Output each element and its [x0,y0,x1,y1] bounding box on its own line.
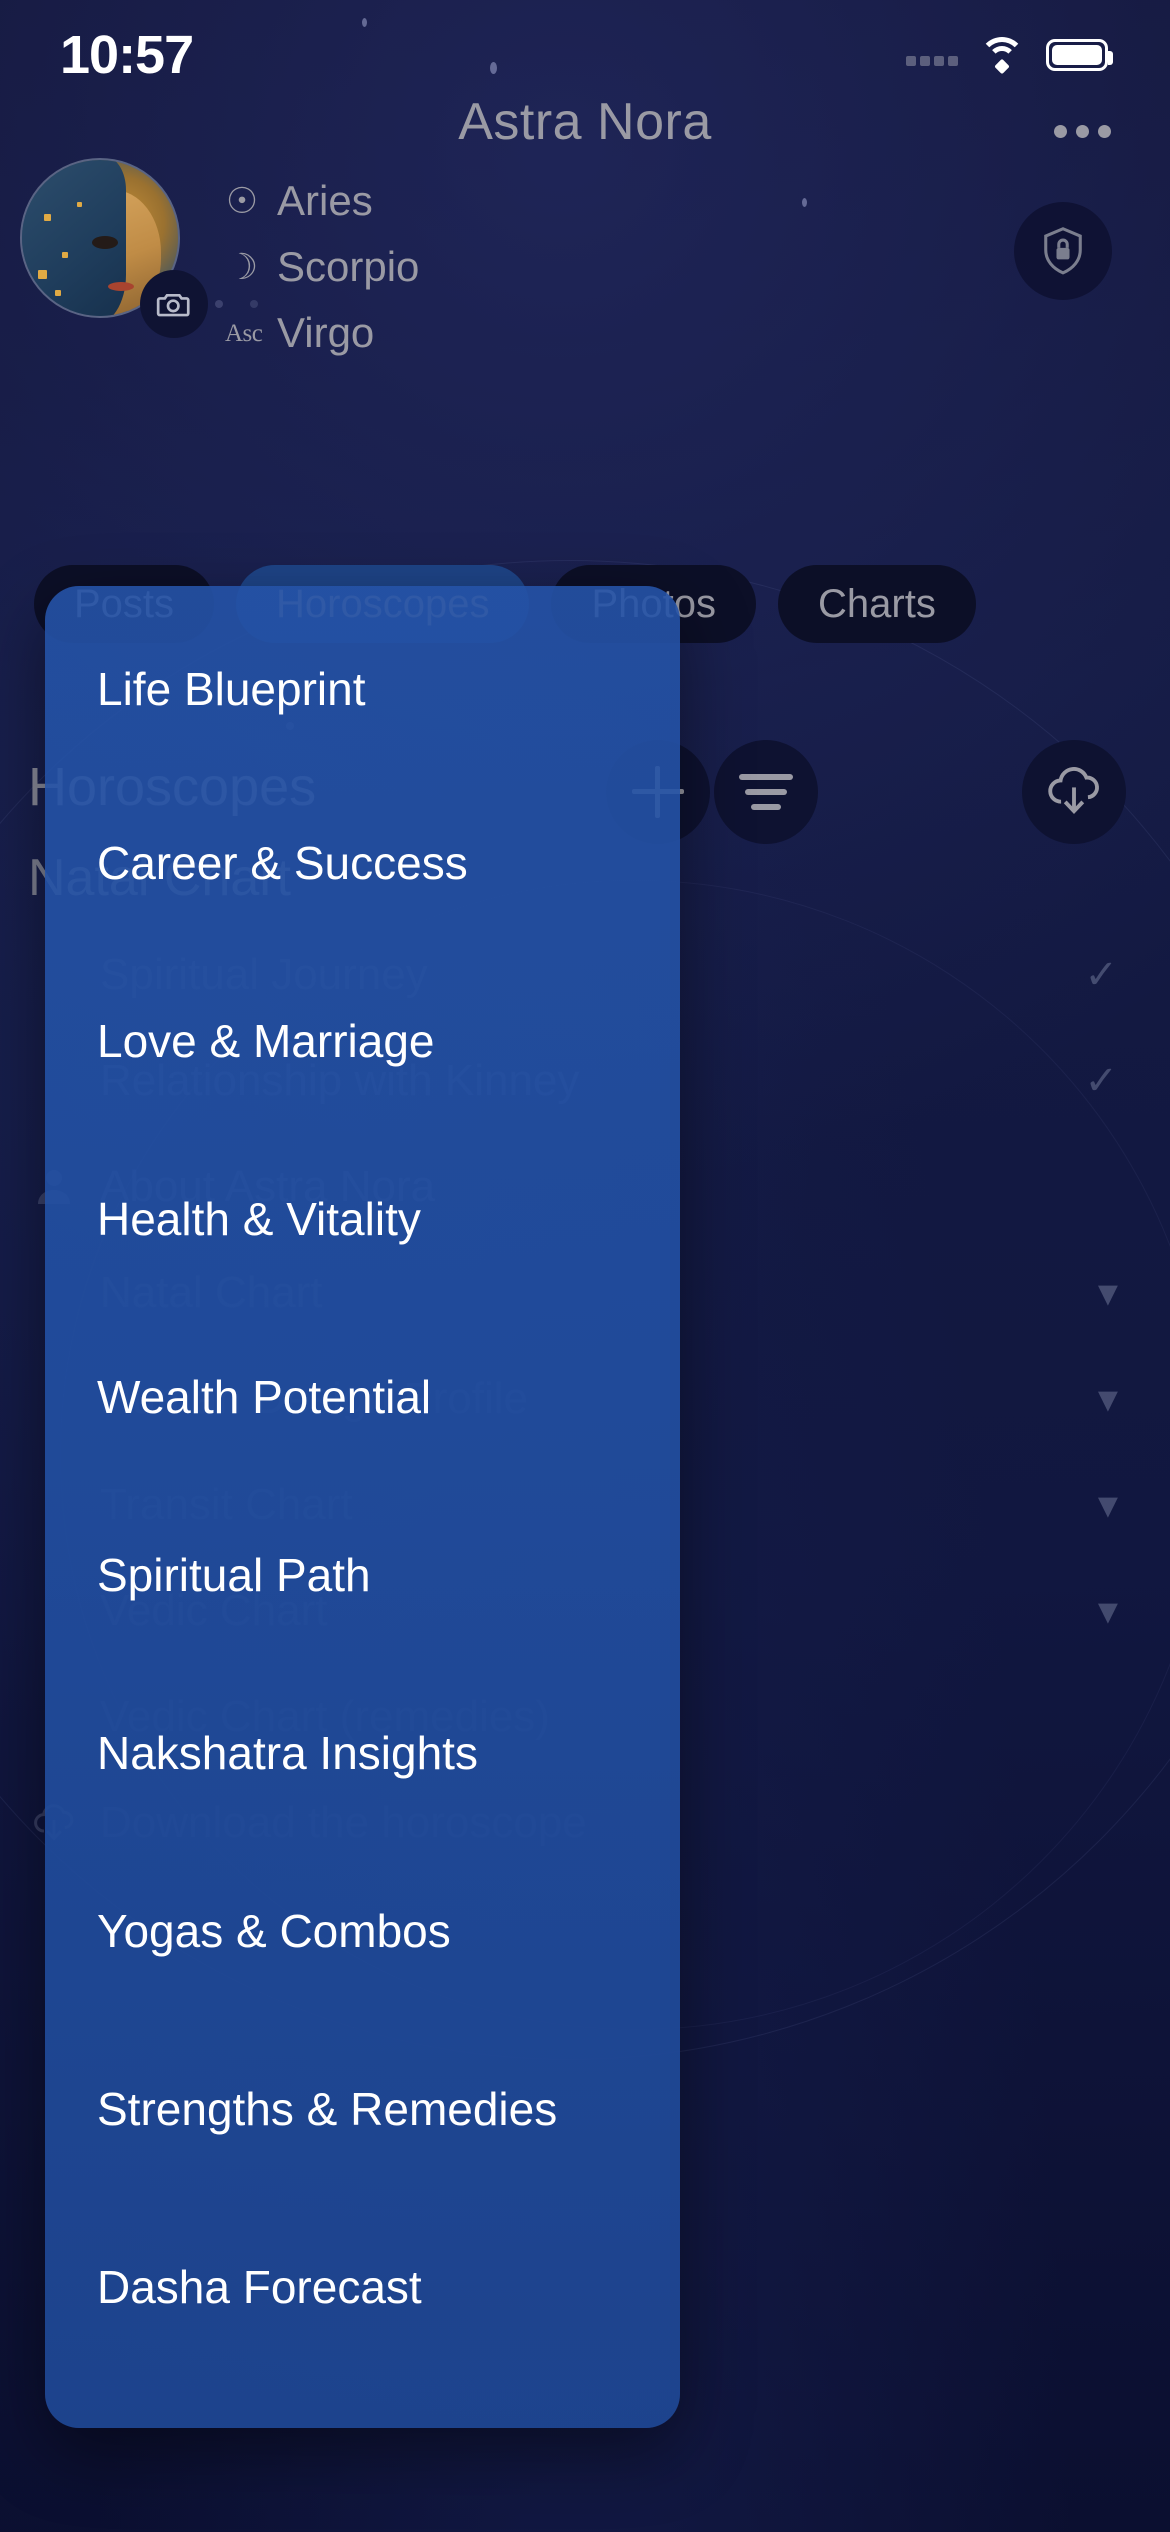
status-clock: 10:57 [60,24,193,86]
moon-icon: ☽ [225,249,259,285]
signal-dots-icon [906,44,958,66]
check-icon: ✓ [1084,1058,1118,1104]
menu-item-yogas-combos[interactable]: Yogas & Combos [45,1842,680,2020]
menu-item-wealth-potential[interactable]: Wealth Potential [45,1308,680,1486]
menu-item-career-success[interactable]: Career & Success [45,774,680,952]
app-screen: 10:57 Astra Nora [0,0,1170,2532]
status-indicators [906,37,1108,73]
menu-item-nakshatra-insights[interactable]: Nakshatra Insights [45,1664,680,1842]
sun-icon: ☉ [225,183,259,219]
filter-lines-icon [739,774,793,810]
download-button[interactable] [1022,740,1126,844]
sign-row-sun: ☉ Aries [225,168,419,234]
profile-header: ☉ Aries ☽ Scorpio Asc Virgo [20,158,1150,338]
battery-icon [1046,39,1108,71]
menu-item-love-marriage[interactable]: Love & Marriage [45,952,680,1130]
menu-item-life-blueprint[interactable]: Life Blueprint [45,604,680,774]
menu-item-strengths-remedies[interactable]: Strengths & Remedies [45,2020,680,2198]
menu-item-spiritual-path[interactable]: Spiritual Path [45,1486,680,1664]
status-bar: 10:57 [0,0,1170,110]
filter-button[interactable] [714,740,818,844]
sign-row-moon: ☽ Scorpio [225,234,419,300]
sign-label-sun: Aries [277,177,373,225]
camera-icon[interactable] [140,270,208,338]
chevron-down-icon: ▾ [1098,1270,1118,1316]
menu-item-health-vitality[interactable]: Health & Vitality [45,1130,680,1308]
menu-item-dasha-forecast[interactable]: Dasha Forecast [45,2198,680,2376]
sign-label-moon: Scorpio [277,243,419,291]
more-options-icon[interactable] [1042,108,1122,154]
cloud-download-icon [1043,759,1105,826]
chevron-down-icon: ▾ [1098,1376,1118,1422]
tab-charts[interactable]: Charts [778,565,976,643]
sign-row-ascendant: Asc Virgo [225,300,419,366]
chevron-down-icon: ▾ [1098,1588,1118,1634]
check-icon: ✓ [1084,952,1118,998]
zodiac-signs-list: ☉ Aries ☽ Scorpio Asc Virgo [225,168,419,366]
ascendant-icon: Asc [225,321,259,346]
wifi-icon [978,37,1026,73]
sign-label-ascendant: Virgo [277,309,374,357]
chevron-down-icon: ▾ [1098,1482,1118,1528]
horoscope-type-dropdown: Life Blueprint Career & Success Love & M… [45,586,680,2428]
shield-lock-icon[interactable] [1014,202,1112,300]
